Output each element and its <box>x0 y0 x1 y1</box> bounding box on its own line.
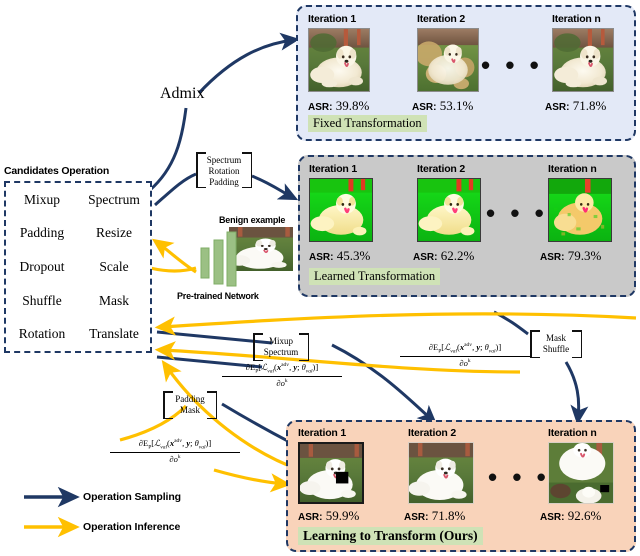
ours-iteration-2-asr: ASR: 71.8% <box>404 508 465 524</box>
fixed-iteration-2-asr: ASR: 53.1% <box>412 98 473 114</box>
learning-to-transform-tag: Learning to Transform (Ours) <box>298 527 483 545</box>
fixed-iteration-2-label: Iteration 2 <box>417 13 465 25</box>
bracket-mixup-spectrum[interactable]: Mixup Spectrum <box>253 333 309 361</box>
asr-value: 53.1% <box>440 98 474 113</box>
candidate-op-resize[interactable]: Resize <box>96 225 132 241</box>
formula-denominator: ∂ok <box>110 453 240 464</box>
formula-grad-mixup-spectrum: ∂EP[ℒval(xadv, y; θval)] ∂ok <box>222 362 342 388</box>
asr-label: ASR: <box>540 512 564 523</box>
fixed-iteration-1-image <box>308 28 370 92</box>
asr-value: 39.8% <box>336 98 370 113</box>
candidate-op-dropout[interactable]: Dropout <box>20 259 65 275</box>
learned-iteration-n-asr: ASR: 79.3% <box>540 248 601 264</box>
fixed-iteration-n-image <box>552 28 614 92</box>
asr-value: 59.9% <box>326 508 360 523</box>
asr-label: ASR: <box>308 102 332 113</box>
fixed-iteration-n-asr: ASR: 71.8% <box>545 98 606 114</box>
fixed-iteration-1-asr: ASR: 39.8% <box>308 98 369 114</box>
fixed-ellipsis: • • • <box>481 60 543 70</box>
bracket-line-shuffle: Shuffle <box>532 344 580 355</box>
legend-operation-sampling-label: Operation Sampling <box>83 491 181 503</box>
asr-value: 71.8% <box>432 508 466 523</box>
candidates-operation-grid: Mixup Spectrum Padding Resize Dropout Sc… <box>6 183 150 351</box>
asr-value: 92.6% <box>568 508 602 523</box>
learned-iteration-1-label: Iteration 1 <box>309 163 357 175</box>
asr-label: ASR: <box>540 252 564 263</box>
ours-iteration-n-asr: ASR: 92.6% <box>540 508 601 524</box>
benign-example-label: Benign example <box>219 215 285 225</box>
asr-label: ASR: <box>404 512 428 523</box>
ours-iteration-1-label: Iteration 1 <box>298 427 346 439</box>
learned-iteration-n-label: Iteration n <box>548 163 597 175</box>
learned-iteration-1-asr: ASR: 45.3% <box>309 248 370 264</box>
formula-grad-mask-shuffle: ∂EP[ℒval(xadv, y; θval)] ∂ok <box>400 342 530 368</box>
learned-iteration-2-image <box>417 178 481 242</box>
bracket-line-rotation: Rotation <box>198 166 250 177</box>
fixed-iteration-n-label: Iteration n <box>552 13 601 25</box>
asr-value: 71.8% <box>573 98 607 113</box>
pretrained-network-label: Pre-trained Network <box>177 291 259 301</box>
learned-iteration-2-asr: ASR: 62.2% <box>413 248 474 264</box>
asr-label: ASR: <box>298 512 322 523</box>
asr-label: ASR: <box>413 252 437 263</box>
ours-iteration-n-image <box>548 442 614 504</box>
learned-iteration-2-label: Iteration 2 <box>417 163 465 175</box>
bracket-mask-shuffle[interactable]: Mask Shuffle <box>530 330 582 358</box>
figure-canvas: Candidates Operation Mixup Spectrum Padd… <box>0 0 640 556</box>
asr-label: ASR: <box>545 102 569 113</box>
formula-denominator: ∂ok <box>400 357 530 368</box>
bracket-line-padding: Padding <box>198 177 250 188</box>
bracket-padding-mask[interactable]: Padding Mask <box>163 391 217 419</box>
asr-value: 79.3% <box>568 248 602 263</box>
candidate-op-translate[interactable]: Translate <box>89 326 139 342</box>
ours-iteration-2-label: Iteration 2 <box>408 427 456 439</box>
asr-value: 45.3% <box>337 248 371 263</box>
candidates-operation-title: Candidates Operation <box>4 165 109 177</box>
learned-ellipsis: • • • <box>486 208 548 218</box>
formula-numerator: ∂EP[ℒval(xadv, y; θval)] <box>222 362 342 377</box>
bracket-spectrum-rotation-padding[interactable]: Spectrum Rotation Padding <box>196 152 252 188</box>
bracket-line-mixup: Mixup <box>255 336 307 347</box>
learned-iteration-1-image <box>309 178 373 242</box>
formula-grad-padding-mask: ∂EP[ℒval(xadv, y; θval)] ∂ok <box>110 438 240 464</box>
candidate-op-padding[interactable]: Padding <box>20 225 64 241</box>
candidate-op-shuffle[interactable]: Shuffle <box>22 293 62 309</box>
formula-numerator: ∂EP[ℒval(xadv, y; θval)] <box>110 438 240 453</box>
ours-iteration-n-label: Iteration n <box>548 427 597 439</box>
candidate-op-rotation[interactable]: Rotation <box>19 326 66 342</box>
bracket-line-padding: Padding <box>165 394 215 405</box>
bracket-line-mask: Mask <box>165 405 215 416</box>
bracket-line-mask: Mask <box>532 333 580 344</box>
ours-iteration-1-asr: ASR: 59.9% <box>298 508 359 524</box>
candidate-op-mask[interactable]: Mask <box>99 293 129 309</box>
fixed-iteration-1-label: Iteration 1 <box>308 13 356 25</box>
legend-operation-inference-label: Operation Inference <box>83 521 180 533</box>
fixed-iteration-2-image <box>417 28 479 92</box>
ours-iteration-1-image <box>298 442 364 504</box>
learned-transformation-tag: Learned Transformation <box>309 268 440 285</box>
candidate-op-scale[interactable]: Scale <box>99 259 128 275</box>
fixed-transformation-tag: Fixed Transformation <box>308 115 427 132</box>
bracket-line-spectrum: Spectrum <box>255 347 307 358</box>
candidate-op-spectrum[interactable]: Spectrum <box>88 192 140 208</box>
formula-numerator: ∂EP[ℒval(xadv, y; θval)] <box>400 342 530 357</box>
asr-value: 62.2% <box>441 248 475 263</box>
learned-iteration-n-image <box>548 178 612 242</box>
bracket-line-spectrum: Spectrum <box>198 155 250 166</box>
candidate-op-mixup[interactable]: Mixup <box>24 192 60 208</box>
benign-example-image <box>229 227 293 271</box>
asr-label: ASR: <box>309 252 333 263</box>
formula-denominator: ∂ok <box>222 377 342 388</box>
ours-ellipsis: • • • <box>488 472 550 482</box>
asr-label: ASR: <box>412 102 436 113</box>
admix-label: Admix <box>160 85 204 103</box>
ours-iteration-2-image <box>408 442 474 504</box>
